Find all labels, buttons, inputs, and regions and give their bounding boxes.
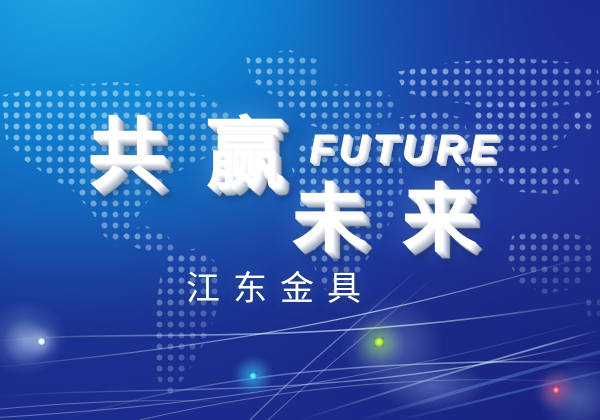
- brand-name: 江东金具: [186, 272, 374, 306]
- headline-char-lai: 来: [402, 182, 476, 256]
- subtitle-future: FUTURE: [309, 129, 501, 169]
- headline-char-ying: 赢: [206, 116, 284, 194]
- headline-char-wei: 未: [292, 182, 366, 256]
- headline-char-gong: 共: [88, 116, 166, 194]
- banner-canvas: 共 赢 FUTURE 未 来 江东金具: [0, 0, 600, 420]
- banner-text-content: 共 赢 FUTURE 未 来 江东金具: [0, 0, 600, 420]
